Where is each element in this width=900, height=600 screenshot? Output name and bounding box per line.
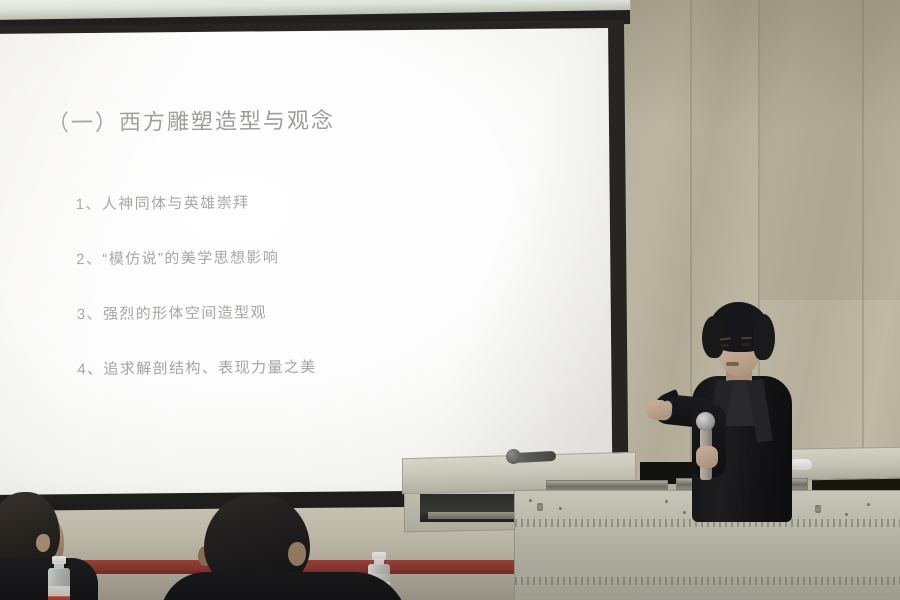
bottle-label bbox=[48, 586, 70, 600]
projection-screen-frame: （一）西方雕塑造型与观念 1、人神同体与英雄崇拜 2、“模仿说”的美学思想影响 … bbox=[0, 20, 629, 508]
presenter-hand-left bbox=[645, 399, 672, 421]
wall-seam bbox=[862, 0, 864, 520]
presenter-eye-left bbox=[721, 344, 729, 347]
presenter-eye-right bbox=[742, 343, 750, 346]
slide-title: （一）西方雕塑造型与观念 bbox=[47, 103, 335, 138]
console-vent-row bbox=[515, 577, 900, 585]
wall-panel bbox=[760, 0, 900, 300]
slide-bullet-4: 4、追求解剖结构、表现力量之美 bbox=[77, 356, 317, 379]
audience-shoulders bbox=[160, 572, 408, 600]
console-screw bbox=[537, 503, 543, 511]
presenter-hair-side-right bbox=[753, 314, 775, 360]
audience-member-center bbox=[176, 494, 406, 600]
slide-bullet-3: 3、强烈的形体空间造型观 bbox=[77, 301, 267, 324]
microphone-icon bbox=[696, 412, 715, 431]
desk-microphone-head-icon bbox=[506, 449, 521, 464]
audience-ear-right bbox=[288, 542, 306, 566]
computer-mouse bbox=[790, 459, 812, 470]
projection-screen-surface: （一）西方雕塑造型与观念 1、人神同体与英雄崇拜 2、“模仿说”的美学思想影响 … bbox=[0, 28, 613, 500]
console-screw bbox=[815, 505, 821, 513]
presenter-hand-right bbox=[696, 446, 718, 468]
presenter-hair-side-left bbox=[702, 316, 724, 358]
presenter-mouth bbox=[726, 362, 739, 366]
slide-bullet-2: 2、“模仿说”的美学思想影响 bbox=[76, 246, 279, 269]
slide: （一）西方雕塑造型与观念 1、人神同体与英雄崇拜 2、“模仿说”的美学思想影响 … bbox=[0, 28, 613, 500]
lecture-hall-photo: （一）西方雕塑造型与观念 1、人神同体与英雄崇拜 2、“模仿说”的美学思想影响 … bbox=[0, 0, 900, 600]
audience-ear bbox=[36, 534, 50, 552]
slide-bullet-1: 1、人神同体与英雄崇拜 bbox=[76, 191, 250, 214]
